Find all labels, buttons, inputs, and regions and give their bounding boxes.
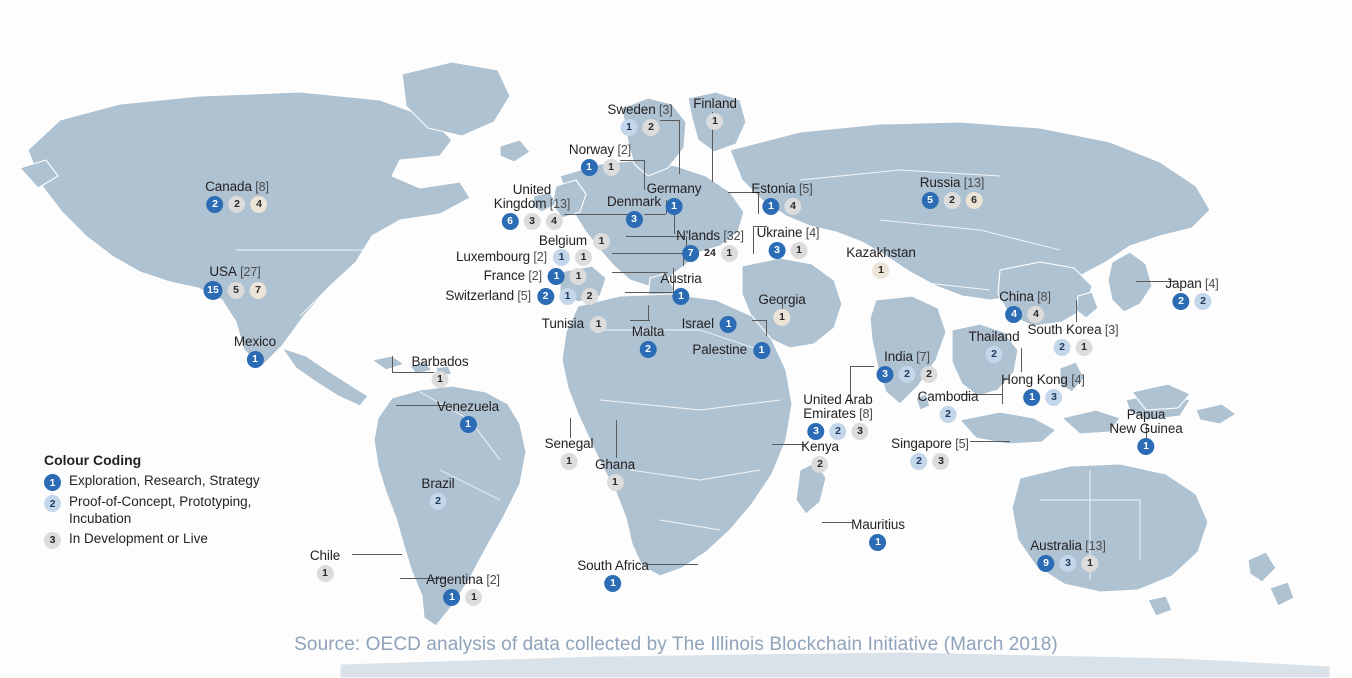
marker-thailand[interactable]: Thailand2 — [969, 330, 1020, 363]
badge-category-3: 1 — [575, 249, 592, 266]
marker-hong-kong[interactable]: Hong Kong [4]13 — [1001, 373, 1085, 406]
marker-badges: 1 — [595, 474, 635, 491]
marker-badges: 7241 — [676, 245, 744, 262]
marker-label: South Korea [3] — [1028, 323, 1119, 337]
marker-label: Ghana — [595, 458, 635, 472]
marker-badges: 2 — [918, 406, 979, 423]
marker-label: United ArabEmirates [8] — [803, 393, 872, 421]
badge-category-3: 4 — [784, 198, 801, 215]
badge-category-1: 1 — [870, 534, 887, 551]
marker-label: Norway [2] — [569, 143, 631, 157]
marker-badges: 22 — [1165, 293, 1218, 310]
marker-badges: 1 — [545, 453, 594, 470]
badge-category-3: 1 — [316, 565, 333, 582]
leader-malta-v — [648, 305, 649, 321]
badge-category-3: 1 — [603, 159, 620, 176]
marker-badges: 1 — [310, 565, 340, 582]
marker-canada[interactable]: Canada [8]224 — [205, 180, 269, 213]
badge-category-2: 3 — [1059, 555, 1076, 572]
marker-badges: 1 — [758, 309, 805, 326]
badge-category-3: 1 — [593, 233, 610, 250]
marker-ghana[interactable]: Ghana1 — [595, 458, 635, 491]
marker-finland[interactable]: Finland1 — [693, 97, 737, 130]
legend-badge-1: 1 — [44, 474, 61, 491]
marker-india[interactable]: India [7]322 — [877, 350, 938, 383]
marker-label: Sweden [3] — [607, 103, 672, 117]
badge-category-3: 1 — [590, 316, 607, 333]
marker-badges: 634 — [494, 213, 570, 230]
marker-badges: 1 — [593, 233, 610, 250]
badge-category-1: 6 — [501, 213, 518, 230]
badge-category-2: 2 — [899, 366, 916, 383]
marker-badges: 1 — [693, 113, 737, 130]
marker-japan[interactable]: Japan [4]22 — [1165, 277, 1218, 310]
badge-category-4: 4 — [251, 196, 268, 213]
badge-category-1: 3 — [769, 242, 786, 259]
badge-category-1: 2 — [1173, 293, 1190, 310]
marker-badges: 21 — [1028, 339, 1119, 356]
marker-germany[interactable]: Germany1 — [647, 182, 702, 215]
marker-label: India [7] — [877, 350, 938, 364]
marker-label: Palestine — [692, 343, 747, 357]
badge-category-1: 2 — [639, 341, 656, 358]
marker-sweden[interactable]: Sweden [3]12 — [607, 103, 672, 136]
badge-category-1: 1 — [444, 589, 461, 606]
leader-korea-v — [1076, 300, 1077, 322]
marker-label: Austria — [660, 272, 701, 286]
marker-label: South Africa — [577, 559, 649, 573]
marker-label: Mexico — [234, 335, 276, 349]
marker-singapore[interactable]: Singapore [5]23 — [891, 437, 969, 470]
badge-category-1: 3 — [807, 423, 824, 440]
marker-mexico[interactable]: Mexico1 — [234, 335, 276, 368]
marker-nlands[interactable]: N'lands [32]7241 — [676, 229, 744, 262]
marker-label: Ukraine [4] — [757, 226, 820, 240]
badge-category-3: 2 — [921, 366, 938, 383]
marker-label: Chile — [310, 549, 340, 563]
marker-tunisia[interactable]: Tunisia1 — [542, 316, 607, 333]
marker-badges: 1 — [851, 534, 905, 551]
marker-badges: 11 — [553, 249, 592, 266]
badge-category-3: 3 — [523, 213, 540, 230]
badge-category-2: 2 — [940, 406, 957, 423]
badge-category-3: 4 — [545, 213, 562, 230]
badge-category-1: 7 — [682, 245, 699, 262]
badge-category-1: 1 — [459, 416, 476, 433]
badge-category-2: 2 — [429, 493, 446, 510]
badge-category-1: 1 — [1023, 389, 1040, 406]
marker-label: Estonia [5] — [751, 182, 812, 196]
badge-category-2: 2 — [829, 423, 846, 440]
legend-badge-2: 2 — [44, 495, 61, 512]
marker-cambodia[interactable]: Cambodia2 — [918, 390, 979, 423]
marker-badges: 1 — [1109, 438, 1182, 455]
marker-label: Georgia — [758, 293, 805, 307]
marker-badges: 2 — [421, 493, 454, 510]
world-map-svg — [0, 0, 1352, 678]
marker-badges: 322 — [877, 366, 938, 383]
marker-luxembourg[interactable]: Luxembourg [2]11 — [456, 249, 592, 266]
badge-category-3: 1 — [721, 245, 738, 262]
marker-georgia[interactable]: Georgia1 — [758, 293, 805, 326]
marker-badges: 1 — [590, 316, 607, 333]
marker-russia[interactable]: Russia [13]526 — [920, 176, 985, 209]
leader-hongkong-v — [1021, 348, 1022, 372]
marker-label: Brazil — [421, 477, 454, 491]
marker-badges: 1 — [753, 342, 770, 359]
leader-mauritius — [822, 522, 852, 523]
legend-label-2: Proof-of-Concept, Prototyping, Incubatio… — [69, 494, 304, 528]
marker-label: Barbados — [412, 355, 469, 369]
marker-badges: 44 — [999, 306, 1051, 323]
badge-category-3: 1 — [570, 268, 587, 285]
badge-category-2: 2 — [1053, 339, 1070, 356]
marker-label: Belgium — [539, 234, 587, 248]
badge-category-4: 6 — [966, 192, 983, 209]
badge-category-3: 3 — [932, 453, 949, 470]
marker-badges: 1 — [437, 416, 499, 433]
marker-usa[interactable]: USA [27]1557 — [204, 265, 267, 300]
badge-category-1: 1 — [548, 268, 565, 285]
leader-barbados-v — [392, 356, 393, 372]
marker-united-kingdom[interactable]: UnitedKingdom [13]634 — [494, 183, 570, 230]
marker-norway[interactable]: Norway [2]11 — [569, 143, 631, 176]
leader-ukraine-v — [753, 226, 754, 254]
marker-label: Venezuela — [437, 400, 499, 414]
badge-category-1: 4 — [1005, 306, 1022, 323]
badge-category-1: 1 — [753, 342, 770, 359]
badge-category-1: 5 — [922, 192, 939, 209]
marker-mauritius[interactable]: Mauritius1 — [851, 518, 905, 551]
badge-category-1: 1 — [665, 198, 682, 215]
marker-label: Switzerland [5] — [445, 289, 531, 303]
marker-badges: 23 — [891, 453, 969, 470]
marker-switzerland[interactable]: Switzerland [5]212 — [445, 288, 598, 305]
badge-category-3: 1 — [466, 589, 483, 606]
leader-tunisia — [630, 320, 650, 321]
leader-ghana-v — [616, 420, 617, 458]
marker-label: Germany — [647, 182, 702, 196]
marker-label: Thailand — [969, 330, 1020, 344]
marker-label: Finland — [693, 97, 737, 111]
marker-chile[interactable]: Chile1 — [310, 549, 340, 582]
marker-label: Kenya — [801, 440, 839, 454]
leader-chile — [352, 554, 402, 555]
legend-title: Colour Coding — [44, 452, 304, 468]
badge-category-3: 2 — [229, 196, 246, 213]
marker-badges: 1 — [412, 371, 469, 388]
marker-label: Mauritius — [851, 518, 905, 532]
marker-badges: 323 — [803, 423, 872, 440]
marker-ukraine[interactable]: Ukraine [4]31 — [757, 226, 820, 259]
badge-category-3: 1 — [560, 453, 577, 470]
marker-south-africa[interactable]: South Africa1 — [577, 559, 649, 592]
marker-badges: 1 — [660, 288, 701, 305]
marker-belgium[interactable]: Belgium1 — [539, 233, 610, 250]
badge-category-1: 3 — [625, 211, 642, 228]
marker-senegal[interactable]: Senegal1 — [545, 437, 594, 470]
marker-austria[interactable]: Austria1 — [660, 272, 701, 305]
badge-category-3: 1 — [606, 474, 623, 491]
leader-uae-h — [850, 366, 874, 367]
source-caption: Source: OECD analysis of data collected … — [0, 634, 1352, 656]
marker-badges: 1 — [846, 262, 916, 279]
legend-label-3: In Development or Live — [69, 531, 208, 548]
marker-brazil[interactable]: Brazil2 — [421, 477, 454, 510]
marker-badges: 1 — [647, 198, 702, 215]
leader-sweden-v — [679, 120, 680, 174]
marker-palestine[interactable]: Palestine1 — [692, 342, 770, 359]
marker-label: Russia [13] — [920, 176, 985, 190]
marker-badges: 212 — [537, 288, 598, 305]
badge-category-1: 3 — [877, 366, 894, 383]
marker-label: Israel — [682, 317, 714, 331]
marker-badges: 1 — [577, 575, 649, 592]
marker-label: China [8] — [999, 290, 1051, 304]
marker-badges: 224 — [205, 196, 269, 213]
badge-category-2: 3 — [1045, 389, 1062, 406]
marker-label: France [2] — [484, 269, 542, 283]
marker-badges: 526 — [920, 192, 985, 209]
marker-label: Singapore [5] — [891, 437, 969, 451]
marker-papua-new-guinea[interactable]: PapuaNew Guinea1 — [1109, 408, 1182, 455]
marker-malta[interactable]: Malta2 — [632, 325, 665, 358]
legend-badge-3: 3 — [44, 532, 61, 549]
badge-category-1: 1 — [1137, 438, 1154, 455]
marker-france[interactable]: France [2]11 — [484, 268, 587, 285]
marker-badges: 11 — [569, 159, 631, 176]
marker-badges: 1557 — [204, 281, 267, 300]
badge-category-1: 1 — [672, 288, 689, 305]
badge-category-1: 1 — [581, 159, 598, 176]
badge-category-2: 1 — [553, 249, 570, 266]
marker-badges: 1 — [720, 316, 737, 333]
marker-estonia[interactable]: Estonia [5]14 — [751, 182, 812, 215]
badge-category-3: 1 — [1081, 555, 1098, 572]
marker-kazakhstan[interactable]: Kazakhstan1 — [846, 246, 916, 279]
marker-label: Luxembourg [2] — [456, 250, 547, 264]
leader-singapore — [970, 441, 1010, 442]
badge-category-3: 4 — [1027, 306, 1044, 323]
badge-category-3: 1 — [1075, 339, 1092, 356]
marker-label: Hong Kong [4] — [1001, 373, 1085, 387]
marker-label: PapuaNew Guinea — [1109, 408, 1182, 436]
badge-category-3: 2 — [812, 456, 829, 473]
marker-badges: 1 — [234, 351, 276, 368]
badge-category-2: 1 — [559, 288, 576, 305]
badge-category-4: 1 — [872, 262, 889, 279]
badge-category-1: 1 — [605, 575, 622, 592]
legend: Colour Coding 1Exploration, Research, St… — [44, 452, 304, 552]
marker-label: N'lands [32] — [676, 229, 744, 243]
badge-category-plain: 24 — [704, 245, 716, 262]
badge-category-3: 3 — [851, 423, 868, 440]
leader-luxembourg — [612, 253, 686, 254]
marker-barbados[interactable]: Barbados1 — [412, 355, 469, 388]
legend-item-3: 3In Development or Live — [44, 531, 304, 549]
marker-australia[interactable]: Australia [13]931 — [1030, 539, 1105, 572]
badge-category-2: 2 — [910, 453, 927, 470]
leader-south-africa — [648, 564, 698, 565]
marker-label: Canada [8] — [205, 180, 269, 194]
badge-category-1: 9 — [1037, 555, 1054, 572]
infographic-map: Canada [8]224USA [27]1557Mexico1Barbados… — [0, 0, 1352, 678]
badge-category-2: 1 — [620, 119, 637, 136]
marker-uae[interactable]: United ArabEmirates [8]323 — [803, 393, 872, 440]
leader-norway-v — [644, 160, 645, 190]
marker-venezuela[interactable]: Venezuela1 — [437, 400, 499, 433]
marker-label: Cambodia — [918, 390, 979, 404]
marker-label: UnitedKingdom [13] — [494, 183, 570, 211]
legend-item-1: 1Exploration, Research, Strategy — [44, 473, 304, 491]
marker-badges: 11 — [548, 268, 587, 285]
badge-category-3: 2 — [642, 119, 659, 136]
marker-label: Malta — [632, 325, 665, 339]
marker-badges: 2 — [969, 346, 1020, 363]
legend-item-2: 2Proof-of-Concept, Prototyping, Incubati… — [44, 494, 304, 528]
marker-label: Australia [13] — [1030, 539, 1105, 553]
marker-label: USA [27] — [204, 265, 267, 279]
badge-category-2: 2 — [986, 346, 1003, 363]
marker-label: Kazakhstan — [846, 246, 916, 260]
badge-category-4: 7 — [250, 282, 267, 299]
marker-argentina[interactable]: Argentina [2]11 — [426, 573, 500, 606]
marker-badges: 931 — [1030, 555, 1105, 572]
marker-label: Tunisia — [542, 317, 584, 331]
badge-category-2: 2 — [1195, 293, 1212, 310]
badge-category-3: 1 — [432, 371, 449, 388]
marker-badges: 14 — [751, 198, 812, 215]
badge-category-1: 1 — [762, 198, 779, 215]
badge-category-1: 1 — [246, 351, 263, 368]
marker-label: Senegal — [545, 437, 594, 451]
badge-category-4: 1 — [773, 309, 790, 326]
marker-china[interactable]: China [8]44 — [999, 290, 1051, 323]
badge-category-3: 1 — [706, 113, 723, 130]
marker-label: Japan [4] — [1165, 277, 1218, 291]
marker-kenya[interactable]: Kenya2 — [801, 440, 839, 473]
badge-category-3: 2 — [944, 192, 961, 209]
leader-senegal-v — [570, 418, 571, 438]
marker-badges: 12 — [607, 119, 672, 136]
legend-label-1: Exploration, Research, Strategy — [69, 473, 260, 490]
marker-badges: 2 — [632, 341, 665, 358]
marker-badges: 31 — [757, 242, 820, 259]
world-map — [0, 0, 1352, 678]
marker-badges: 11 — [426, 589, 500, 606]
marker-israel[interactable]: Israel1 — [682, 316, 737, 333]
legend-rows: 1Exploration, Research, Strategy2Proof-o… — [44, 473, 304, 549]
badge-category-1: 2 — [207, 196, 224, 213]
badge-category-1: 1 — [720, 316, 737, 333]
marker-south-korea[interactable]: South Korea [3]21 — [1028, 323, 1119, 356]
badge-category-3: 1 — [791, 242, 808, 259]
badge-category-3: 5 — [228, 282, 245, 299]
badge-category-1: 2 — [537, 288, 554, 305]
marker-badges: 13 — [1001, 389, 1085, 406]
badge-category-1: 15 — [204, 281, 223, 300]
badge-category-3: 2 — [581, 288, 598, 305]
marker-badges: 2 — [801, 456, 839, 473]
marker-label: Argentina [2] — [426, 573, 500, 587]
